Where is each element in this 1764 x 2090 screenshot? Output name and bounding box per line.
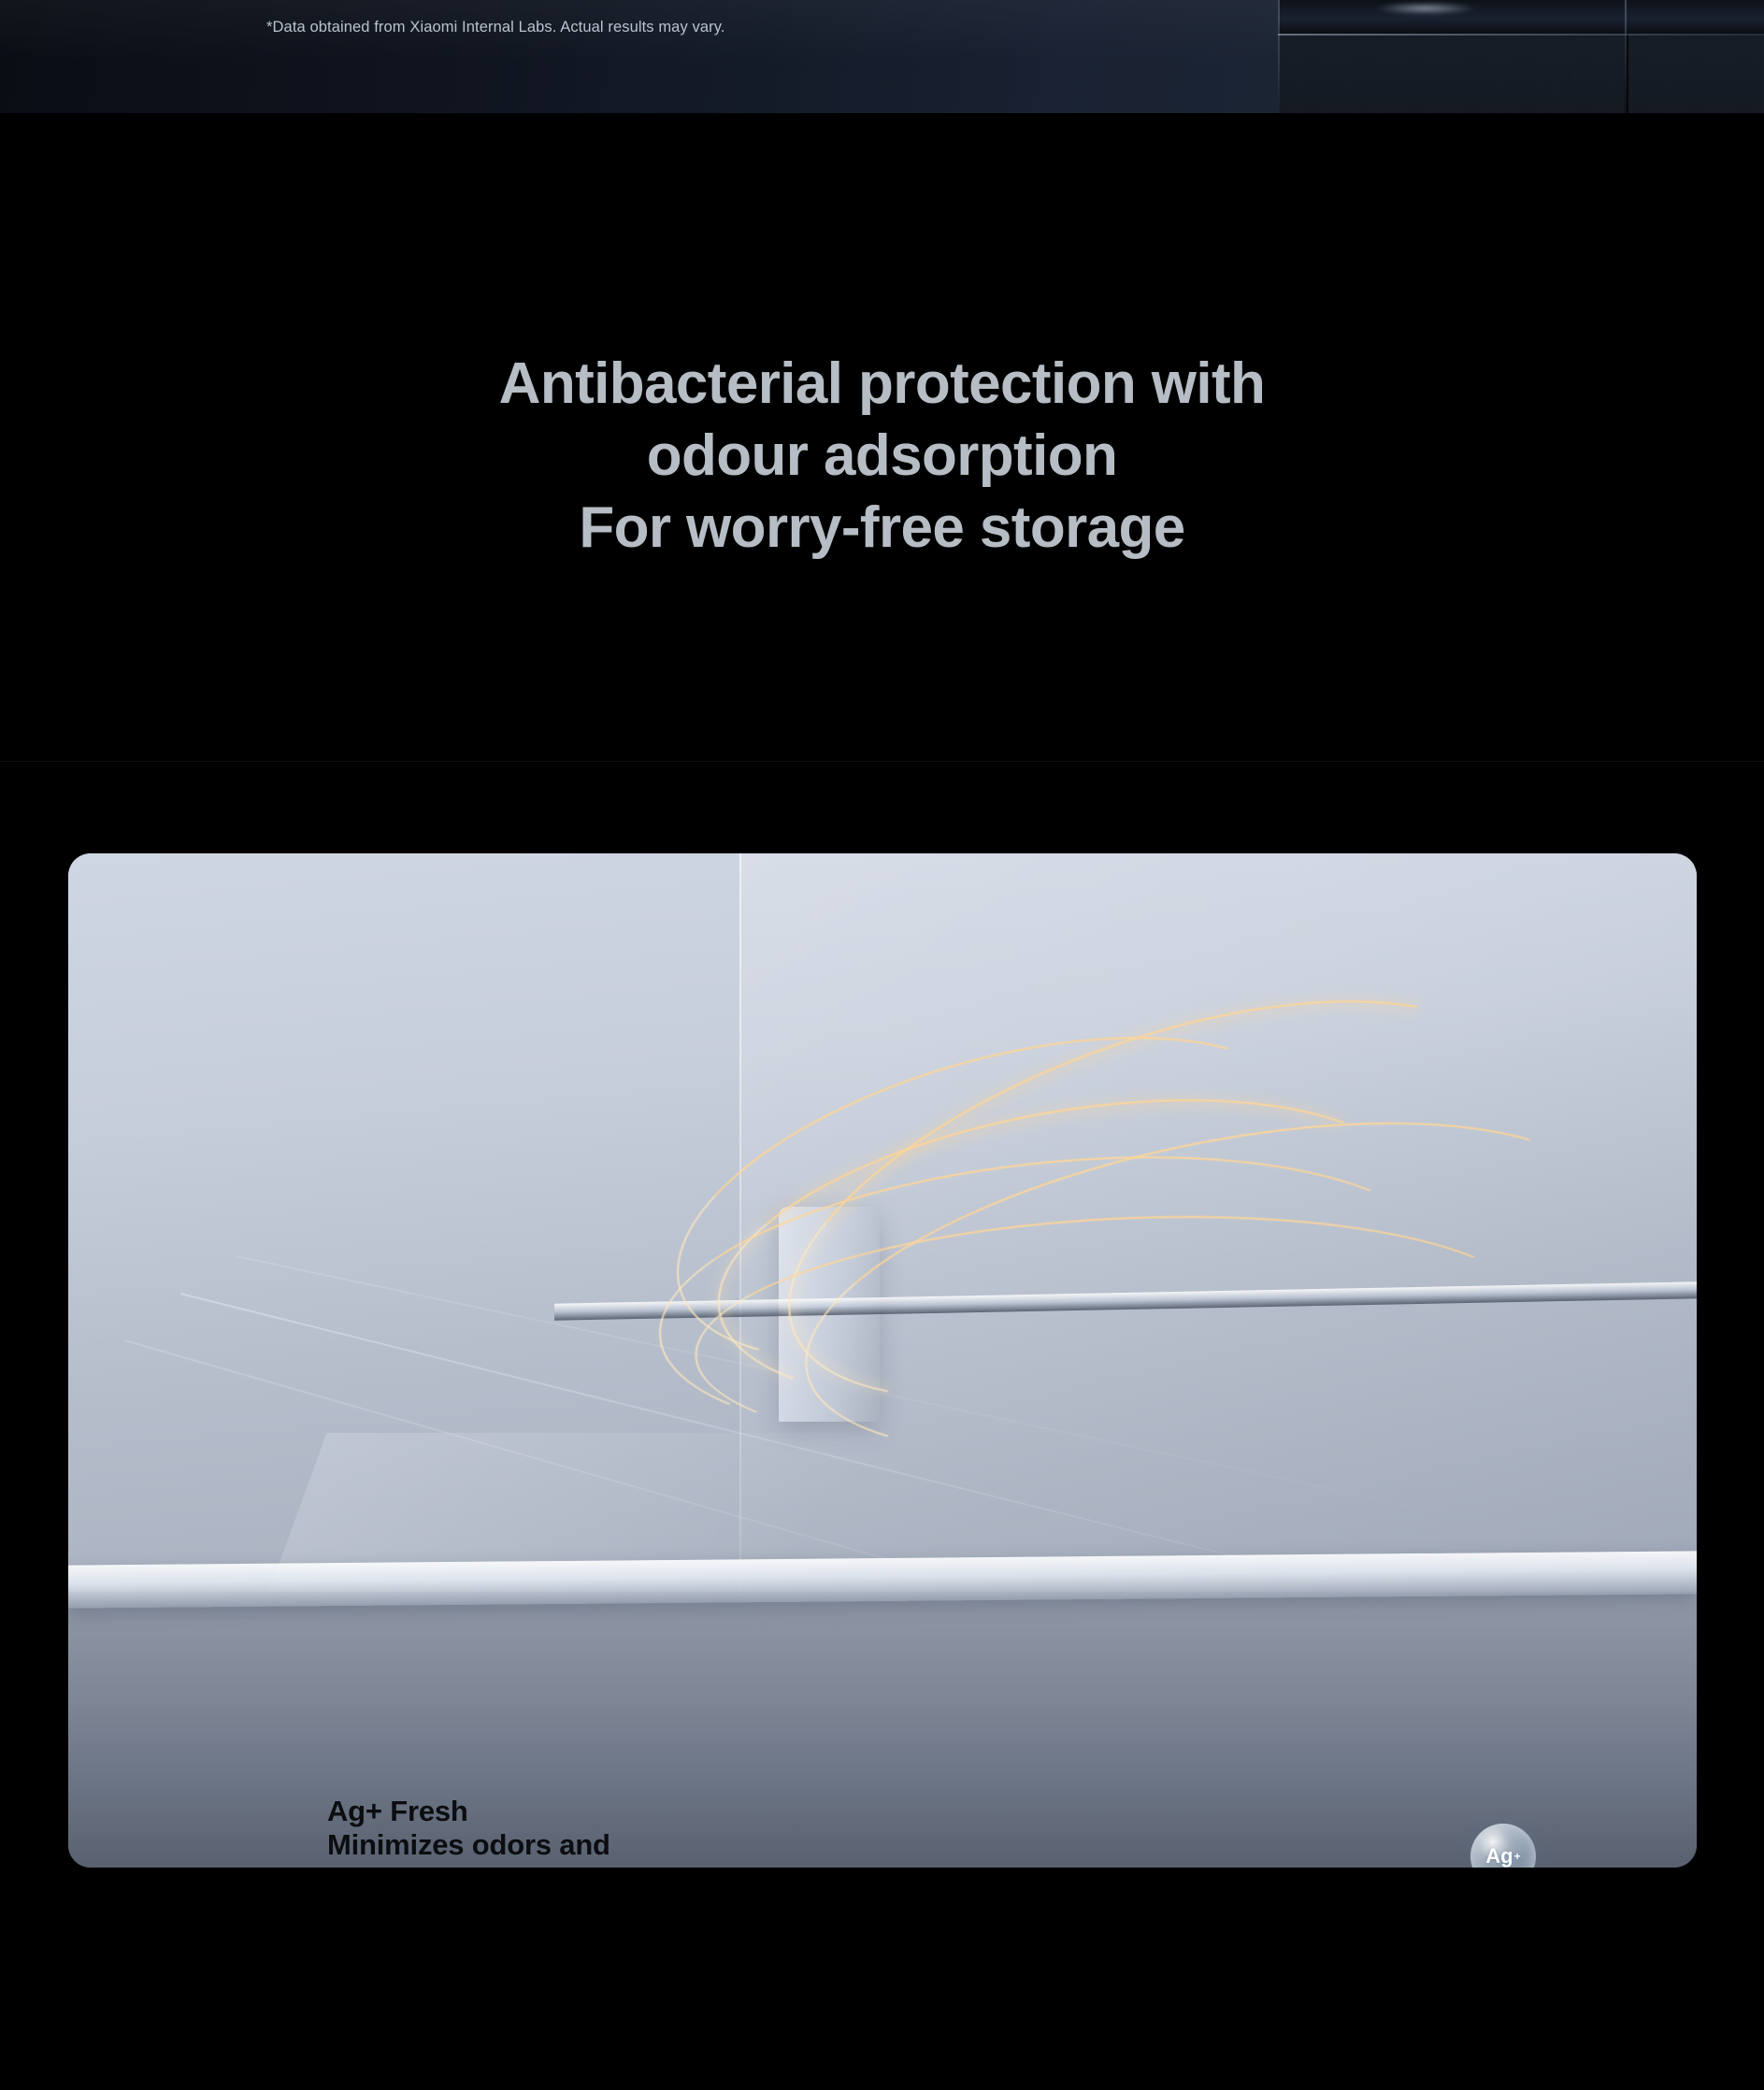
page-title: Antibacterial protection with odour adso… [0,349,1764,565]
product-feature-page: *Data obtained from Xiaomi Internal Labs… [0,0,1764,2090]
fridge-lower-compartment [68,1592,1697,1868]
ag-bubble-charge: + [1514,1850,1521,1863]
hero-title-line-2: odour adsorption [647,423,1118,488]
section-divider [0,761,1764,762]
ag-bubble-label: Ag [1485,1844,1513,1868]
top-fridge-image-band: *Data obtained from Xiaomi Internal Labs… [0,0,1764,113]
fridge-highlight-glint [1374,2,1477,15]
feature-heading-line-3: inhibits bacteria* [327,1863,557,1868]
hero-title-line-1: Antibacterial protection with [499,351,1266,416]
top-disclaimer-text: *Data obtained from Xiaomi Internal Labs… [266,17,725,37]
feature-card-heading: Ag+ Fresh Minimizes odors and inhibits b… [327,1795,610,1868]
silver-ion-swirl-graphic [657,1022,1573,1461]
feature-heading-line-2: Minimizes odors and [327,1828,610,1861]
feature-heading-line-1: Ag+ Fresh [327,1795,468,1827]
fridge-panel-seam-left [1278,0,1280,113]
ag-fresh-feature-card: Ag+ Ag+ Ag+ Ag+ Ag+ Fresh Minimizes odor… [68,853,1697,1868]
fridge-top-rail [1278,0,1764,34]
fridge-panel-edge [1278,34,1764,36]
hero-section: Antibacterial protection with odour adso… [0,113,1764,762]
fridge-panel-seam-right [1625,0,1627,113]
hero-title-line-3: For worry-free storage [579,495,1184,560]
